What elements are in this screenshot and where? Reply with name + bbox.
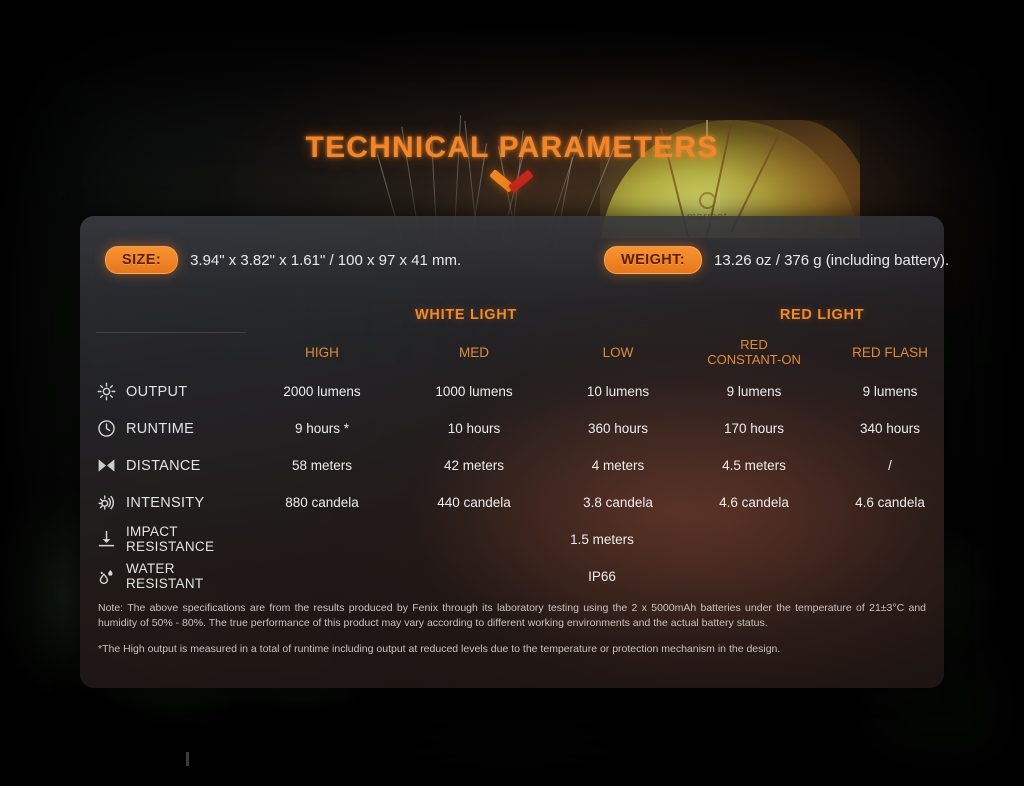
clock-icon	[96, 418, 117, 439]
cell-runtime-red-constant-on: 170 hours	[686, 410, 822, 447]
cell-output-high: 2000 lumens	[246, 373, 398, 410]
cell-runtime-high: 9 hours *	[246, 410, 398, 447]
cell-output-red-flash: 9 lumens	[822, 373, 958, 410]
product-spec-banner: marmot	[0, 0, 1024, 786]
impact-label-line1: IMPACT	[126, 524, 178, 539]
table-row: RUNTIME 9 hours * 10 hours 360 hours 170…	[96, 410, 958, 447]
cell-water-resistant-value: IP66	[246, 558, 958, 595]
top-letterbox	[0, 0, 1024, 30]
table-row: DISTANCE 58 meters 42 meters 4 meters 4.…	[96, 447, 958, 484]
spec-panel: SIZE: 3.94" x 3.82" x 1.61" / 100 x 97 x…	[80, 216, 944, 688]
note-text: Note: The above specifications are from …	[98, 601, 926, 631]
table-row: INTENSITY 880 candela 440 candela 3.8 ca…	[96, 484, 958, 521]
cell-distance-low: 4 meters	[550, 447, 686, 484]
cell-output-low: 10 lumens	[550, 373, 686, 410]
water-label-line2: RESISTANT	[126, 576, 203, 591]
weight-value: 13.26 oz / 376 g (including battery).	[714, 252, 949, 269]
cell-runtime-red-flash: 340 hours	[822, 410, 958, 447]
size-label: SIZE:	[105, 246, 178, 274]
row-label-distance: DISTANCE	[96, 447, 246, 484]
group-header-white-light: WHITE LIGHT	[246, 298, 686, 333]
table-mode-header-row: HIGH MED LOW REDCONSTANT-ON RED FLASH	[96, 333, 958, 374]
cell-distance-med: 42 meters	[398, 447, 550, 484]
row-label-text: WATER RESISTANT	[126, 562, 203, 591]
cell-intensity-red-flash: 4.6 candela	[822, 484, 958, 521]
row-label-impact-resistance: IMPACT RESISTANCE	[96, 521, 246, 558]
weight-item: WEIGHT: 13.26 oz / 376 g (including batt…	[604, 246, 949, 274]
cell-output-med: 1000 lumens	[398, 373, 550, 410]
row-label-text: RUNTIME	[126, 421, 194, 437]
cell-output-red-constant-on: 9 lumens	[686, 373, 822, 410]
cell-intensity-med: 440 candela	[398, 484, 550, 521]
size-item: SIZE: 3.94" x 3.82" x 1.61" / 100 x 97 x…	[105, 246, 461, 274]
sun-icon	[96, 381, 117, 402]
cell-intensity-high: 880 candela	[246, 484, 398, 521]
group-header-red-light: RED LIGHT	[686, 298, 958, 333]
cell-impact-resistance-value: 1.5 meters	[246, 521, 958, 558]
row-label-output: OUTPUT	[96, 373, 246, 410]
mode-header-red-constant-on: REDCONSTANT-ON	[686, 333, 822, 374]
beam-distance-icon	[96, 455, 117, 476]
mode-header-red-flash: RED FLASH	[822, 333, 958, 374]
mode-header-high: HIGH	[246, 333, 398, 374]
specifications-table: WHITE LIGHT RED LIGHT HIGH MED LOW REDCO…	[96, 298, 958, 595]
water-drop-icon	[96, 566, 117, 587]
impact-icon	[96, 529, 117, 550]
page-title: TECHNICAL PARAMETERS	[0, 131, 1024, 165]
intensity-icon	[96, 492, 117, 513]
row-label-runtime: RUNTIME	[96, 410, 246, 447]
cell-runtime-low: 360 hours	[550, 410, 686, 447]
cell-runtime-med: 10 hours	[398, 410, 550, 447]
table-row: WATER RESISTANT IP66	[96, 558, 958, 595]
chevron-down-icon	[492, 168, 538, 198]
footnote-text: *The High output is measured in a total …	[98, 642, 926, 657]
row-label-text: OUTPUT	[126, 384, 187, 400]
mode-header-low: LOW	[550, 333, 686, 374]
table-group-header-row: WHITE LIGHT RED LIGHT	[96, 298, 958, 333]
summary-row: SIZE: 3.94" x 3.82" x 1.61" / 100 x 97 x…	[80, 238, 944, 290]
water-label-line1: WATER	[126, 561, 175, 576]
weight-label: WEIGHT:	[604, 246, 702, 274]
bottom-letterbox	[0, 770, 1024, 786]
cell-intensity-red-constant-on: 4.6 candela	[686, 484, 822, 521]
cell-distance-high: 58 meters	[246, 447, 398, 484]
row-label-intensity: INTENSITY	[96, 484, 246, 521]
table-row: OUTPUT 2000 lumens 1000 lumens 10 lumens…	[96, 373, 958, 410]
cell-distance-red-flash: /	[822, 447, 958, 484]
row-label-text: DISTANCE	[126, 458, 201, 474]
background-speck	[186, 752, 189, 766]
cell-intensity-low: 3.8 candela	[550, 484, 686, 521]
row-label-water-resistant: WATER RESISTANT	[96, 558, 246, 595]
notes-section: Note: The above specifications are from …	[98, 601, 926, 658]
cell-distance-red-constant-on: 4.5 meters	[686, 447, 822, 484]
size-value: 3.94" x 3.82" x 1.61" / 100 x 97 x 41 mm…	[190, 252, 461, 269]
mode-header-med: MED	[398, 333, 550, 374]
impact-label-line2: RESISTANCE	[126, 539, 214, 554]
table-row: IMPACT RESISTANCE 1.5 meters	[96, 521, 958, 558]
row-label-text: IMPACT RESISTANCE	[126, 525, 214, 554]
row-label-text: INTENSITY	[126, 495, 204, 511]
